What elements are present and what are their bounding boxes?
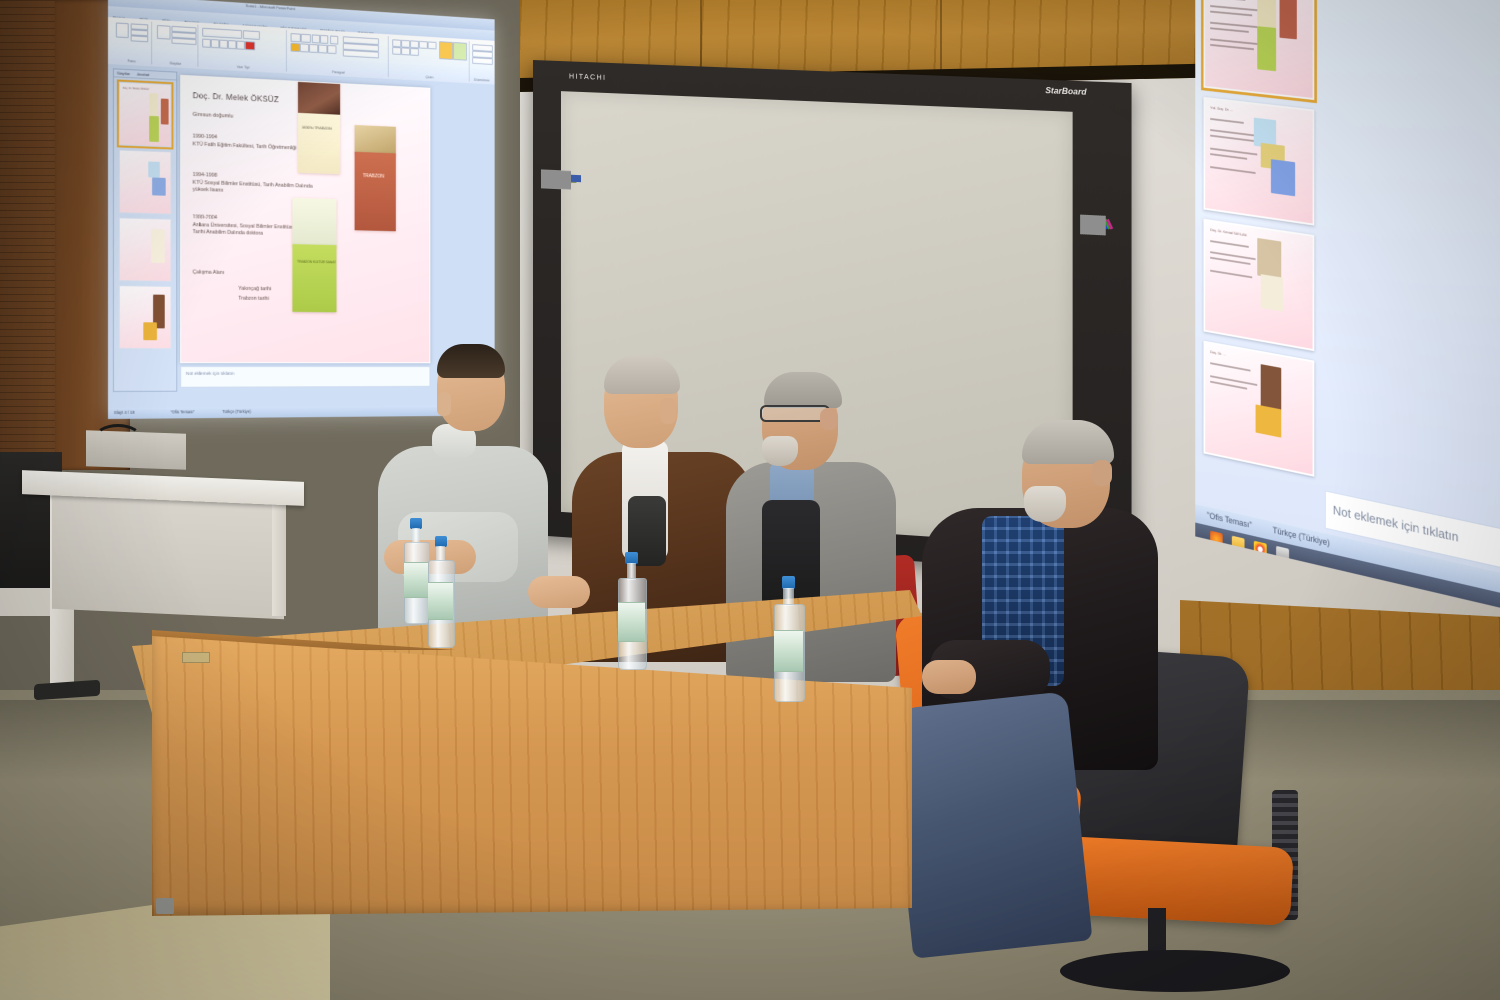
shape-oval-icon[interactable] [419, 41, 428, 49]
thumbnail-title: Yrd. Doç. Dr. ... [1210, 105, 1233, 112]
book-title-3: TRABZON KÜLTÜR SANAT [297, 260, 336, 265]
italic-icon[interactable] [211, 39, 220, 48]
smartart-icon[interactable] [343, 50, 379, 59]
tab-slaytlar[interactable]: Slaytlar [117, 70, 130, 76]
book-cover-3: TRABZON KÜLTÜR SANAT [292, 244, 336, 312]
right-projection-screen: Doç. Dr. Melek ÖKSÜZ Yrd. Doç. Dr. ... [1195, 0, 1500, 610]
table-foot [156, 898, 174, 914]
font-name-combo[interactable] [202, 28, 242, 39]
conference-room-photo: Sunu1 - Microsoft PowerPoint Dosya Giriş… [0, 0, 1500, 1000]
numbering-icon[interactable] [301, 34, 311, 43]
shape-fill-icon[interactable] [439, 41, 453, 60]
font-size-combo[interactable] [243, 30, 260, 40]
underline-icon[interactable] [219, 40, 228, 49]
justify-icon[interactable] [318, 44, 327, 53]
status-slide-count: Slayt 4 / 18 [114, 410, 135, 415]
side-table-modesty-panel [52, 491, 284, 620]
ribbon-group-label-duzenleme: Düzenleme [470, 78, 492, 83]
water-bottle-3[interactable] [618, 552, 645, 668]
right-slide-thumbnail-panel[interactable]: Doç. Dr. Melek ÖKSÜZ Yrd. Doç. Dr. ... [1204, 0, 1315, 486]
shape-star-icon[interactable] [410, 48, 419, 56]
slide-thumbnail-panel[interactable]: Slaytlar Anahat Doç. Dr. Melek ÖKSÜZ . [113, 68, 177, 392]
thumbnail-slide-3[interactable] [119, 217, 172, 282]
panelist-2-hand [528, 576, 590, 608]
thumbnail-slide-3[interactable]: Doç. Dr. Kemal SAYLAN [1204, 219, 1315, 351]
thumbnail-title: Doç. Dr. Melek ÖKSÜZ [123, 87, 149, 91]
book-cover-2-photo [355, 125, 396, 155]
paste-icon[interactable] [116, 22, 129, 38]
left-projection-screen: Sunu1 - Microsoft PowerPoint Dosya Giriş… [108, 0, 495, 419]
bold-icon[interactable] [202, 39, 211, 48]
hitachi-logo: HITACHI [569, 73, 606, 82]
thumbnail-slide-1[interactable]: Doç. Dr. Melek ÖKSÜZ [1204, 0, 1315, 100]
shape-curve-icon[interactable] [392, 47, 401, 55]
panelist-4-hair [1022, 420, 1114, 464]
ribbon-group-pano[interactable]: Pano [112, 19, 152, 64]
thumbnail-slide-2[interactable]: . [119, 149, 172, 214]
table-brand-badge [182, 652, 210, 663]
format-painter-icon[interactable] [131, 35, 149, 42]
shape-outline-icon[interactable] [453, 42, 467, 61]
shape-more-icon[interactable] [428, 41, 437, 49]
decrease-indent-icon[interactable] [312, 34, 320, 43]
notes-placeholder: Not eklemek için tıklatın [1333, 503, 1459, 545]
strikethrough-icon[interactable] [236, 41, 244, 50]
water-bottle-2[interactable] [428, 536, 453, 646]
entry-2-years: 1994-1998 [193, 172, 218, 180]
panelist-4-hand [922, 660, 976, 694]
slide-canvas[interactable]: Doç. Dr. Melek ÖKSÜZ Giresun doğumlu 199… [180, 75, 430, 363]
thumbnail-title: . [123, 155, 124, 158]
entry-3-years: 1999-2004 [193, 214, 218, 222]
notes-placeholder: Not eklemek için tıklatın [186, 372, 234, 377]
thumbnail-title: Doç. Dr. Kemal SAYLAN [1210, 227, 1246, 237]
increase-indent-icon[interactable] [320, 35, 328, 44]
align-left-icon[interactable] [291, 43, 300, 52]
thumbnail-title: Doç. Dr. ... [1210, 349, 1226, 357]
panelist-4-beard [1024, 486, 1066, 522]
panelist-1-ear [437, 392, 451, 416]
starboard-logo: StarBoard [1045, 86, 1086, 97]
book-cover-photo-top [298, 80, 340, 115]
new-slide-icon[interactable] [157, 25, 171, 40]
status-theme: "Ofis Teması" [171, 409, 195, 414]
notes-pane[interactable]: Not eklemek için tıklatın [180, 366, 430, 388]
book-cover-1: 1830'lu TRABZON [298, 113, 340, 174]
ribbon-group-label-pano: Pano [112, 58, 151, 64]
ribbon-group-cizim[interactable]: Çizim [390, 36, 470, 81]
thumbnail-panel-tabs[interactable]: Slaytlar Anahat [114, 69, 176, 80]
panelist-4-ear [1092, 460, 1112, 486]
field-label: Çalışma Alanı [193, 269, 225, 277]
ribbon-group-yazi-tipi[interactable]: Yazı Tipi [199, 25, 287, 72]
thumbnail-slide-2[interactable]: Yrd. Doç. Dr. ... [1204, 97, 1315, 226]
book-title-1: 1830'lu TRABZON [302, 125, 332, 131]
font-color-icon[interactable] [245, 41, 255, 50]
panelist-3-hair [764, 372, 842, 408]
shape-brace-icon[interactable] [401, 47, 410, 55]
panelist-1-hair [437, 344, 505, 378]
slide-title: Doç. Dr. Melek ÖKSÜZ [193, 90, 279, 104]
align-center-icon[interactable] [300, 43, 309, 52]
book-cover-3-photo [292, 198, 336, 247]
ribbon-group-slaytlar[interactable]: Slaytlar [153, 22, 198, 67]
status-language: Türkçe (Türkiye) [222, 409, 251, 414]
page-next-icon[interactable] [569, 171, 571, 190]
water-bottle-1[interactable] [404, 518, 428, 622]
ribbon-group-duzenleme[interactable]: Düzenleme [470, 41, 492, 82]
bullets-icon[interactable] [291, 33, 301, 42]
thumbnail-slide-4[interactable]: Doç. Dr. ... [1204, 341, 1315, 477]
bottle-label [774, 630, 803, 672]
empty-chair-base [1060, 950, 1290, 992]
section-icon[interactable] [171, 38, 196, 45]
power-cable [94, 424, 142, 452]
panelist-2-hair [604, 356, 680, 394]
ribbon-group-paragraf[interactable]: Paragraf [288, 30, 389, 77]
bottle-label [428, 582, 453, 620]
tab-anahat[interactable]: Anahat [137, 72, 149, 78]
line-spacing-icon[interactable] [330, 35, 338, 44]
select-icon[interactable] [472, 57, 493, 65]
panelist-3-beard [762, 436, 798, 466]
thumbnail-slide-1[interactable]: Doç. Dr. Melek ÖKSÜZ [119, 82, 172, 148]
panelist-3-ear [820, 408, 838, 430]
empty-chair-seat[interactable] [1060, 836, 1294, 926]
columns-icon[interactable] [327, 45, 336, 54]
whiteboard-right-toolbar[interactable] [1080, 216, 1097, 235]
entry-2-text: KTÜ Sosyal Bilimler Enstitüsü, Tarih Ana… [193, 180, 324, 199]
side-table-leg-right [272, 498, 286, 616]
pen-magenta-icon[interactable] [1104, 216, 1106, 236]
book-title-2: TRABZON [363, 173, 384, 179]
shadow-icon[interactable] [228, 40, 237, 49]
thumbnail-slide-4[interactable] [119, 285, 172, 349]
whiteboard-left-toolbar[interactable] [541, 170, 557, 189]
book-cover-2: TRABZON [355, 152, 396, 231]
water-bottle-4[interactable] [774, 576, 803, 700]
bottle-label [404, 562, 428, 598]
slide-birthplace: Giresun doğumlu [193, 112, 234, 120]
bottle-label [618, 602, 645, 642]
panelist-4-jeans [887, 691, 1092, 958]
powerpoint-title: Sunu1 - Microsoft PowerPoint [246, 3, 295, 11]
panelist-2-ear [660, 398, 676, 424]
field-2: Trabzon tarihi [238, 296, 269, 302]
align-right-icon[interactable] [309, 44, 318, 53]
field-1: Yakınçağ tarihi [238, 286, 271, 292]
